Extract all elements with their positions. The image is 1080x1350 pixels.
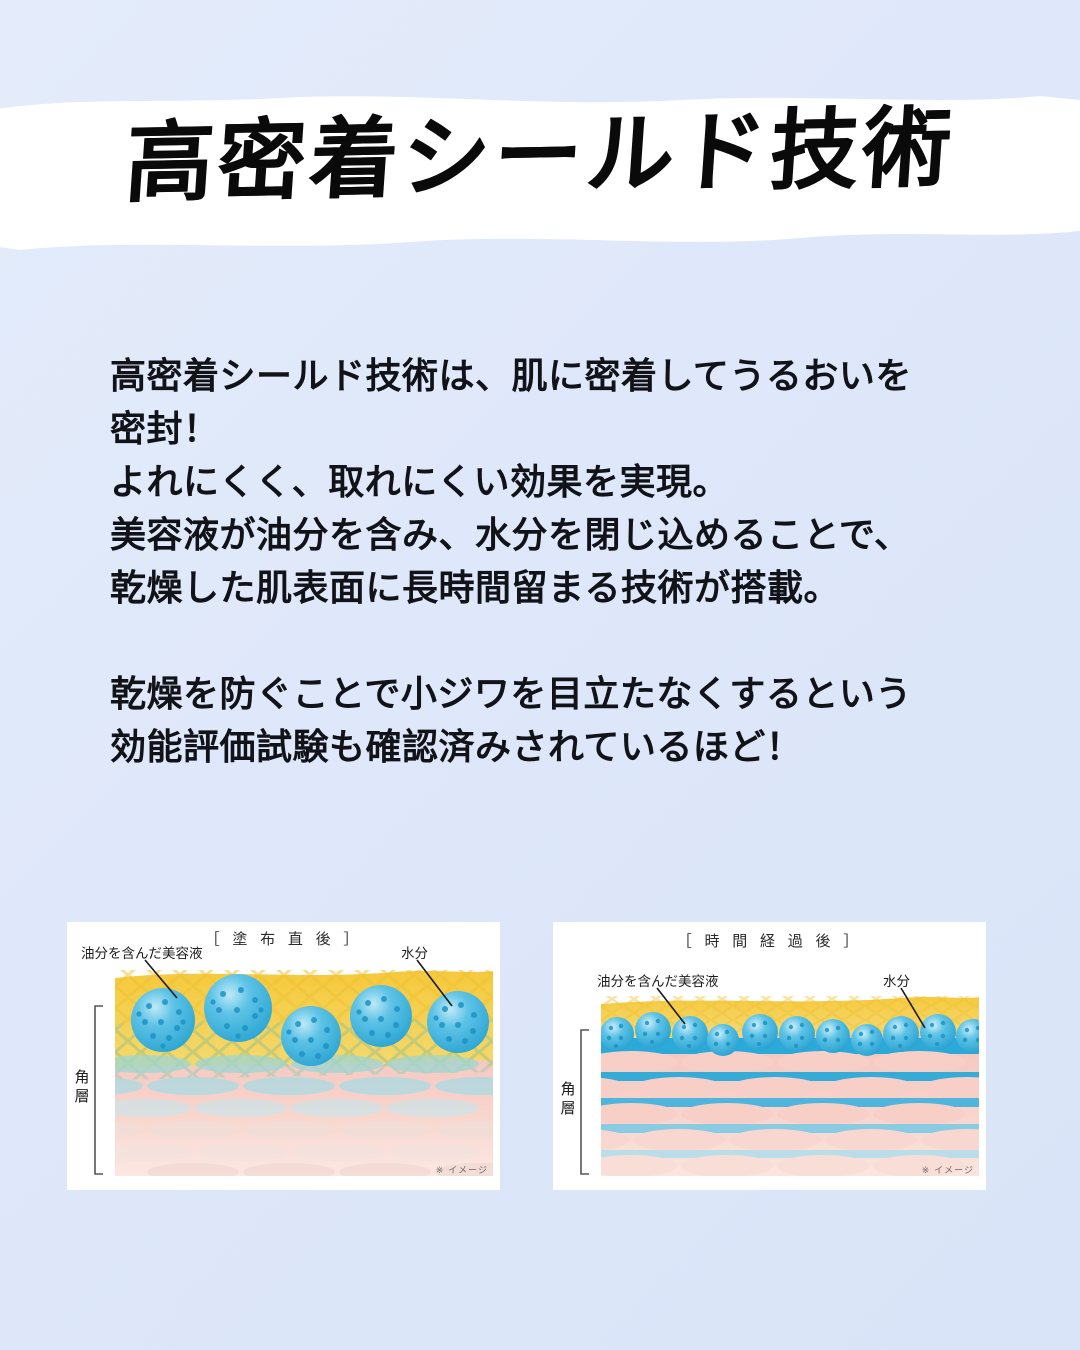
diagram-left-image-note: ※ イメージ xyxy=(436,1163,488,1176)
diagram-panel-after-time: ［ 時 間 経 過 後 ］ xyxy=(553,922,986,1190)
diagram-left-leader-lines xyxy=(67,922,500,1190)
page-title-wrap: 高密着シールド技術 xyxy=(0,112,1080,200)
page-title: 高密着シールド技術 xyxy=(122,104,957,208)
body-line-1: 高密着シールド技術は、肌に密着してうるおいを xyxy=(110,350,990,403)
diagram-panel-immediately-after: ［ 塗 布 直 後 ］ xyxy=(67,922,500,1190)
body-line-2: 密封！ xyxy=(110,403,990,456)
diagram-right-image-note: ※ イメージ xyxy=(922,1163,974,1176)
diagram-right-label-layer: 角層 xyxy=(559,1080,577,1118)
body-line-5: 乾燥した肌表面に長時間留まる技術が搭載。 xyxy=(110,562,990,615)
body-line-6: 乾燥を防ぐことで小ジワを目立たなくするという xyxy=(110,668,990,721)
diagram-row: ［ 塗 布 直 後 ］ xyxy=(0,922,1080,1192)
body-line-4: 美容液が油分を含み、水分を閉じ込めることで、 xyxy=(110,509,990,562)
diagram-right-leader-lines xyxy=(553,922,986,1190)
diagram-left-label-layer: 角層 xyxy=(73,1068,91,1106)
body-line-7: 効能評価試験も確認済みされているほど！ xyxy=(110,721,990,774)
body-line-3: よれにくく、取れにくい効果を実現。 xyxy=(110,456,990,509)
body-paragraph-gap xyxy=(110,615,990,668)
body-copy: 高密着シールド技術は、肌に密着してうるおいを 密封！ よれにくく、取れにくい効果… xyxy=(110,350,990,774)
